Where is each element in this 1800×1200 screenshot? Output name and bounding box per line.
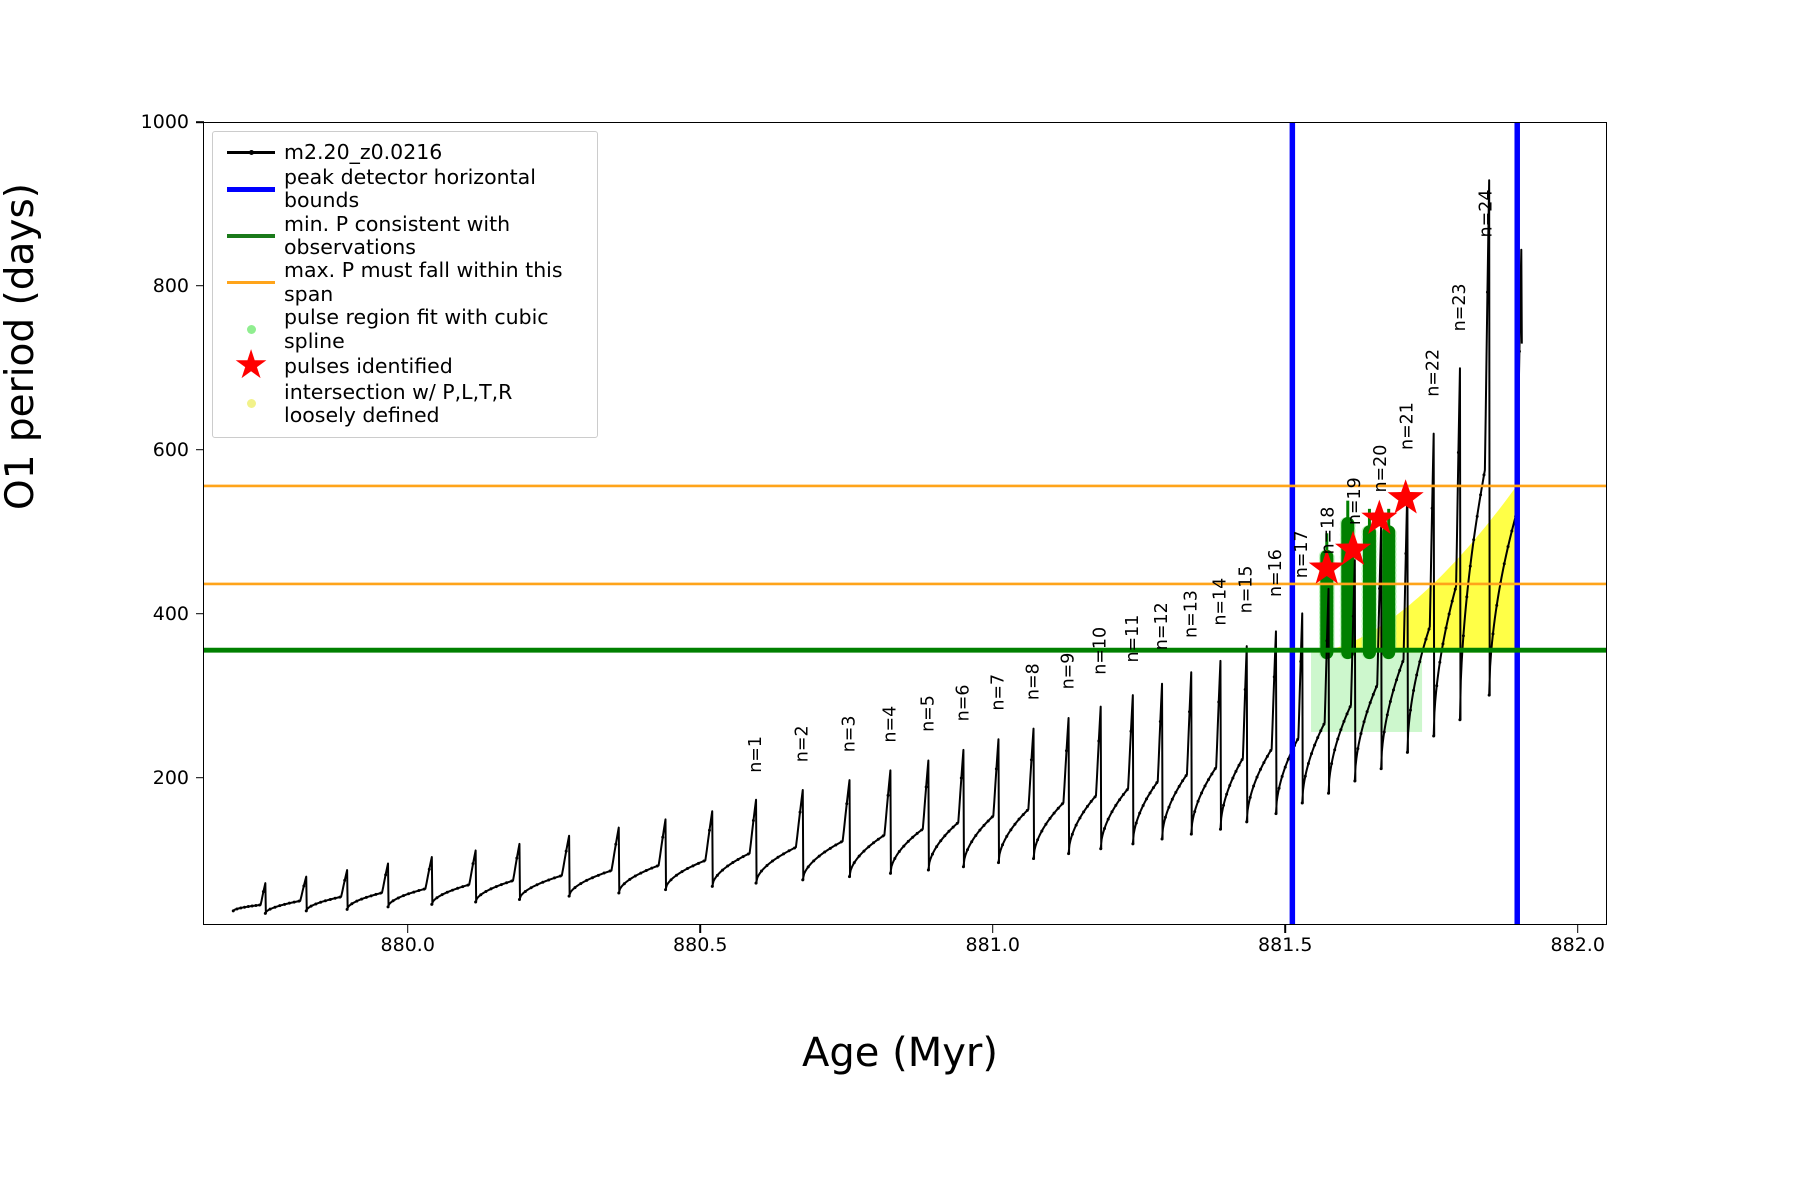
pulse-label: n=3 [840, 716, 860, 753]
y-axis-label: O1 period (days) [0, 183, 43, 510]
y-tick-label: 200 [99, 767, 189, 789]
pulse-label: n=2 [793, 725, 813, 762]
pulse-label: n=14 [1210, 578, 1230, 626]
y-tick-label: 400 [99, 603, 189, 625]
pulse-label: n=23 [1450, 283, 1470, 331]
pulse-label: n=9 [1059, 653, 1079, 690]
line-swatch-icon [227, 234, 275, 239]
legend-line-swatch [222, 223, 280, 249]
pulse-label: n=4 [880, 706, 900, 743]
legend-star-swatch: ★ [222, 353, 280, 379]
dot-marker-icon [249, 150, 254, 155]
pulse-label: n=20 [1371, 445, 1391, 493]
legend-item-label: peak detector horizontal bounds [280, 166, 588, 213]
legend-dot-swatch [222, 317, 280, 343]
legend-item-label: min. P consistent with observations [280, 213, 588, 260]
legend-item: pulse region fit with cubic spline [222, 306, 588, 353]
x-tick-mark [407, 925, 409, 933]
legend-line-swatch [222, 140, 280, 166]
figure-root: O1 period (days) Age (Myr) 2004006008001… [0, 0, 1800, 1200]
x-tick-mark [992, 925, 994, 933]
legend-line-swatch [222, 270, 280, 296]
x-tick-mark [699, 925, 701, 933]
legend-item: ★pulses identified [222, 353, 588, 380]
pulse-label: n=18 [1319, 507, 1339, 555]
legend-item: max. P must fall within this span [222, 259, 588, 306]
pulse-label: n=11 [1123, 615, 1143, 663]
pulse-label: n=16 [1266, 549, 1286, 597]
line-swatch-icon [227, 281, 275, 284]
pulse-label: n=1 [746, 736, 766, 773]
line-swatch-icon [227, 187, 275, 192]
y-tick-label: 600 [99, 439, 189, 461]
legend-item: min. P consistent with observations [222, 213, 588, 260]
y-tick-label: 1000 [99, 111, 189, 133]
pulse-label: n=5 [918, 695, 938, 732]
legend-item-label: intersection w/ P,L,T,R loosely defined [280, 381, 512, 428]
pulse-label: n=22 [1424, 349, 1444, 397]
x-tick-label: 881.0 [966, 934, 1020, 956]
legend-item: intersection w/ P,L,T,R loosely defined [222, 380, 588, 428]
pulse-label: n=17 [1292, 530, 1312, 578]
legend-item: peak detector horizontal bounds [222, 166, 588, 213]
pulse-label: n=7 [989, 674, 1009, 711]
legend-item-label: max. P must fall within this span [280, 259, 588, 306]
x-axis-label: Age (Myr) [0, 1030, 1800, 1076]
pulse-label: n=21 [1397, 402, 1417, 450]
dot-swatch-icon [247, 399, 256, 408]
dot-swatch-icon [247, 325, 256, 334]
pulse-label: n=6 [953, 685, 973, 722]
pulse-label: n=13 [1181, 590, 1201, 638]
x-tick-label: 881.5 [1258, 934, 1312, 956]
x-tick-label: 882.0 [1551, 934, 1605, 956]
x-tick-label: 880.5 [673, 934, 727, 956]
legend-item-label: pulse region fit with cubic spline [280, 306, 588, 353]
legend-item-label: m2.20_z0.0216 [280, 141, 442, 164]
legend: m2.20_z0.0216peak detector horizontal bo… [212, 131, 598, 438]
legend-item-label: pulses identified [280, 355, 453, 378]
pulse-label: n=15 [1237, 565, 1257, 613]
pulse-label: n=8 [1023, 663, 1043, 700]
pulse-label: n=24 [1476, 190, 1496, 238]
y-tick-label: 800 [99, 275, 189, 297]
legend-line-swatch [222, 176, 280, 202]
x-tick-mark [1284, 925, 1286, 933]
x-tick-label: 880.0 [381, 934, 435, 956]
x-tick-mark [1577, 925, 1579, 933]
pulse-label: n=10 [1091, 627, 1111, 675]
pulse-label: n=12 [1152, 602, 1172, 650]
legend-item: m2.20_z0.0216 [222, 139, 588, 166]
pulse-label: n=19 [1345, 477, 1365, 525]
legend-dot-swatch [222, 391, 280, 417]
